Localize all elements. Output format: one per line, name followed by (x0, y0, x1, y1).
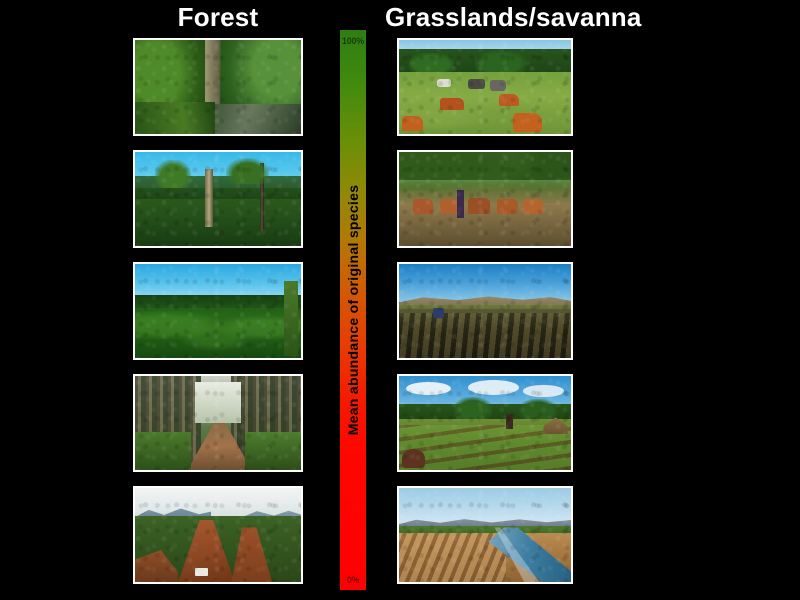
photo-forest-primary-rainforest (133, 38, 303, 136)
photo-grain (135, 488, 301, 582)
colorbar-axis-label: Mean abundance of original species (345, 185, 361, 436)
photo-column-grasslands (397, 38, 573, 598)
photo-grain (135, 152, 301, 246)
photo-grain (399, 152, 571, 246)
photo-grain (399, 376, 571, 470)
photo-grassland-irrigated-industrial-cropland (397, 486, 573, 584)
slide-canvas: Forest Grasslands/savanna (0, 0, 800, 600)
photo-forest-pine-plantation (133, 374, 303, 472)
photo-grain (399, 264, 571, 358)
colorbar-min-label: 0% (340, 575, 366, 585)
colorbar-legend: 100% 0% Mean abundance of original speci… (340, 30, 366, 590)
photo-grassland-natural-savanna-wildlife (397, 38, 573, 136)
photo-column-forest (133, 38, 303, 598)
photo-grain (135, 264, 301, 358)
colorbar-max-label: 100% (340, 36, 366, 46)
photo-grassland-smallholder-vegetable-plots (397, 374, 573, 472)
column-heading-grasslands: Grasslands/savanna (385, 2, 585, 33)
column-heading-forest: Forest (133, 2, 303, 33)
photo-forest-cleared-eroded-hillside (133, 486, 303, 584)
photo-forest-agricultural-plantation (133, 262, 303, 360)
photo-grain (399, 488, 571, 582)
photo-grassland-ploughed-field-escarpment (397, 262, 573, 360)
photo-grassland-pastoral-cattle-herding (397, 150, 573, 248)
photo-forest-secondary-degraded (133, 150, 303, 248)
photo-grain (135, 40, 301, 134)
photo-grain (135, 376, 301, 470)
photo-grain (399, 40, 571, 134)
